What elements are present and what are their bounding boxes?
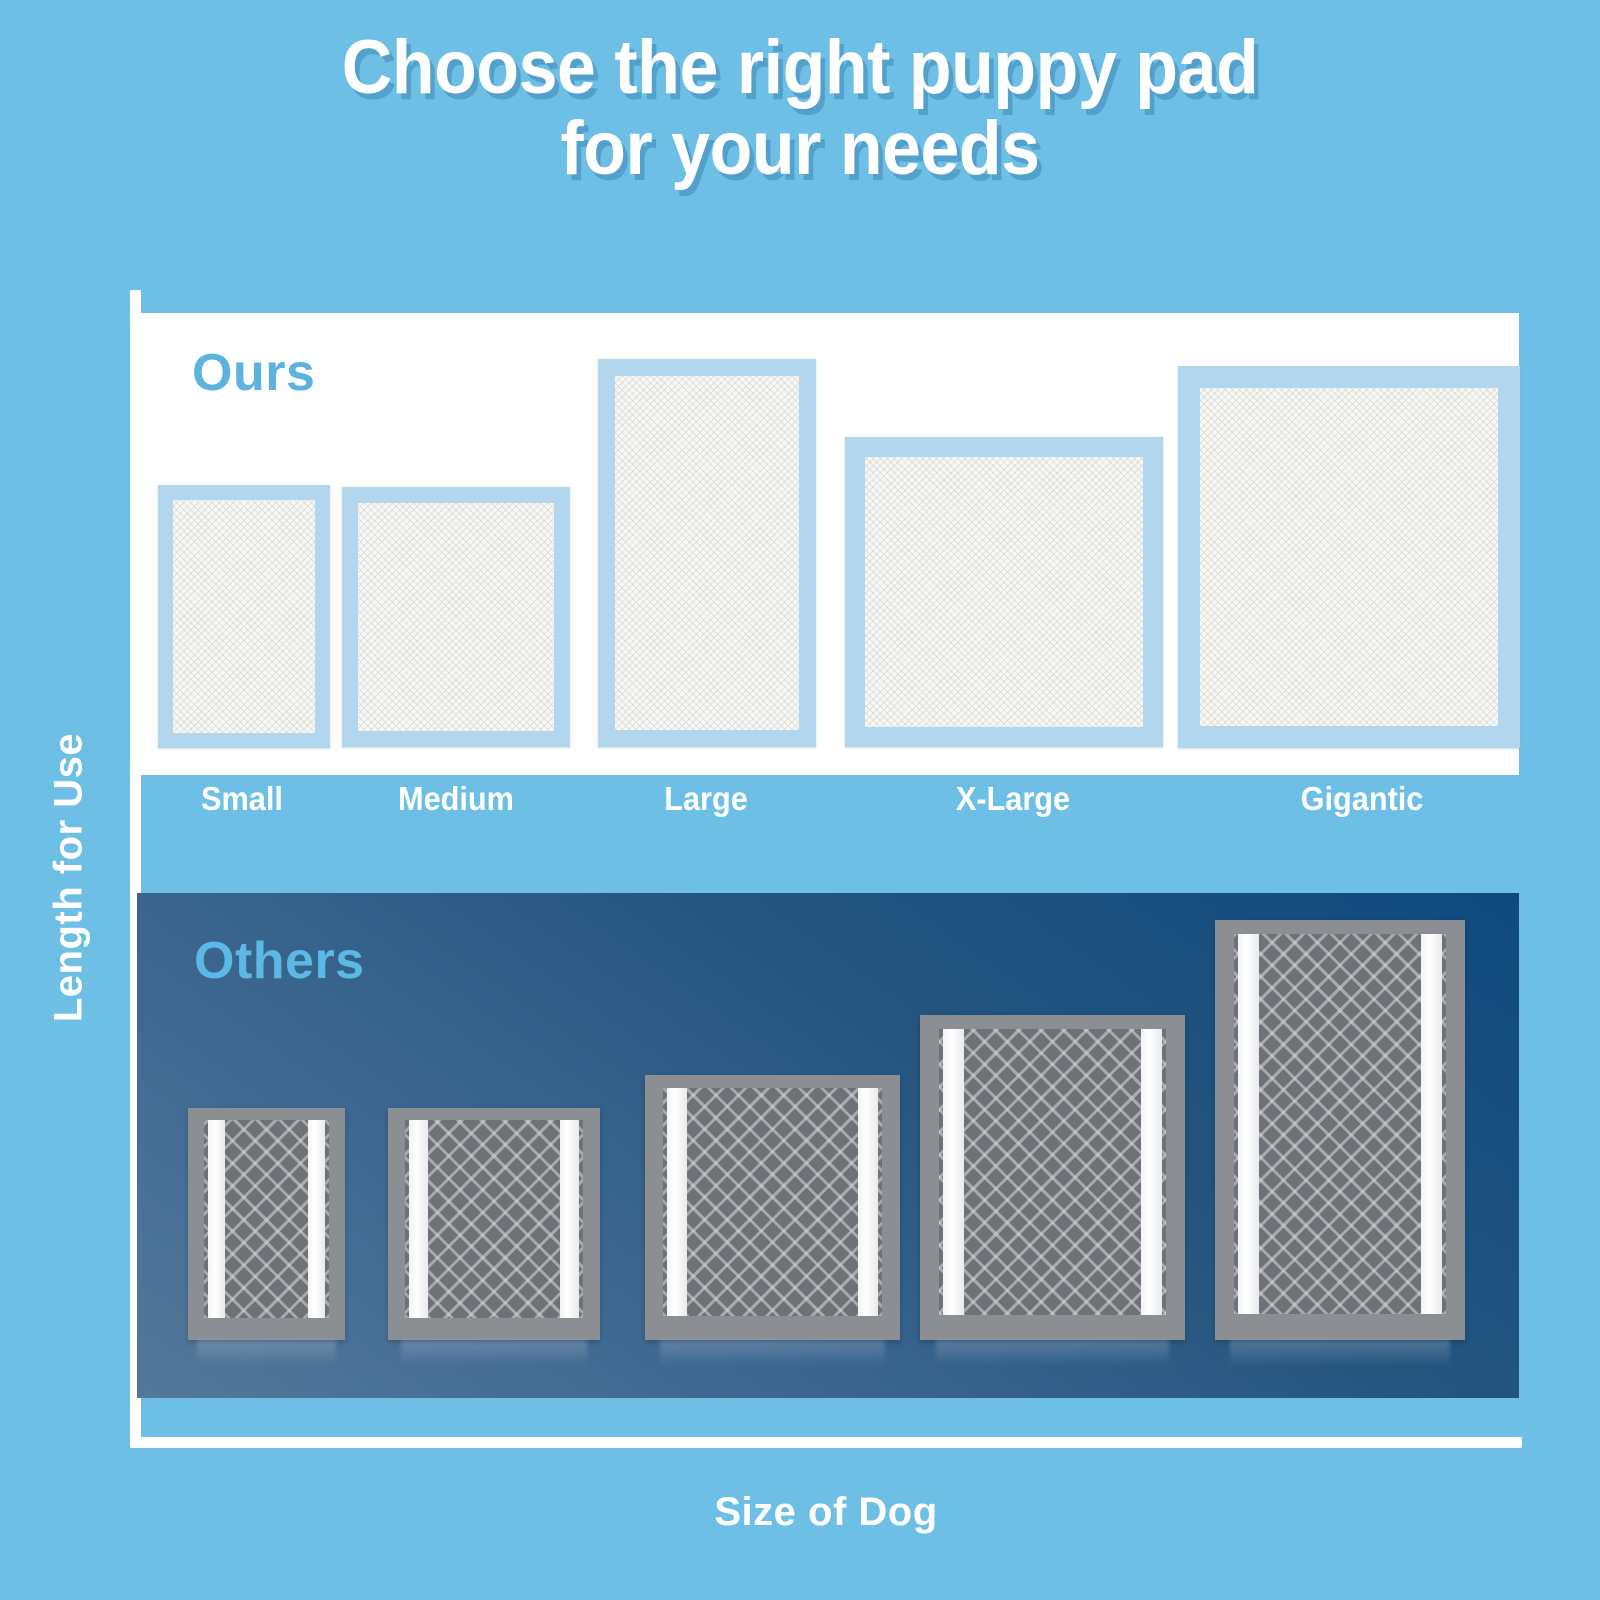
pad-reflection (936, 1340, 1169, 1366)
pad-absorbent-surface (358, 503, 554, 731)
pad-adhesive-strip-right (308, 1120, 325, 1318)
x-axis-line (130, 1437, 1522, 1448)
others-pad-large (645, 1075, 900, 1340)
ours-heading: Ours (192, 343, 315, 403)
pad-adhesive-strip-right (1421, 934, 1442, 1314)
pad-reflection (660, 1340, 884, 1366)
pad-absorbent-surface (615, 376, 799, 730)
others-pad-gigantic (1215, 920, 1465, 1340)
pad-reflection (1230, 1340, 1450, 1366)
others-heading: Others (194, 931, 365, 991)
pad-absorbent-surface (1200, 388, 1498, 726)
size-label-xlarge: X-Large (911, 780, 1116, 818)
ours-pad-medium (342, 487, 570, 747)
y-axis-label: Length for Use (47, 668, 92, 1088)
ours-pad-xlarge (845, 437, 1163, 747)
pad-absorbent-surface (1234, 934, 1446, 1314)
page-title: Choose the right puppy pad for your need… (64, 28, 1536, 189)
infographic-canvas: Choose the right puppy pad for your need… (0, 0, 1600, 1600)
size-label-small: Small (140, 780, 345, 818)
pad-adhesive-strip-left (409, 1120, 428, 1318)
pad-absorbent-surface (939, 1029, 1166, 1315)
pad-adhesive-strip-left (943, 1029, 964, 1315)
pad-adhesive-strip-right (560, 1120, 579, 1318)
pad-absorbent-surface (405, 1120, 583, 1318)
pad-adhesive-strip-right (858, 1088, 878, 1316)
ours-pad-small (158, 485, 330, 748)
ours-pad-large (598, 359, 816, 747)
size-label-large: Large (604, 780, 809, 818)
pad-adhesive-strip-right (1141, 1029, 1162, 1315)
pad-reflection (197, 1340, 335, 1366)
others-pad-small (188, 1108, 345, 1340)
size-label-gigantic: Gigantic (1260, 780, 1465, 818)
pad-absorbent-surface (663, 1088, 882, 1316)
ours-panel: Ours (137, 313, 1519, 775)
x-axis-label: Size of Dog (130, 1490, 1522, 1535)
ours-pad-gigantic (1178, 366, 1520, 748)
others-pad-medium (388, 1108, 600, 1340)
others-panel: Others (137, 893, 1519, 1398)
pad-adhesive-strip-left (208, 1120, 225, 1318)
size-label-medium: Medium (354, 780, 559, 818)
others-pad-xlarge (920, 1015, 1185, 1340)
pad-reflection (401, 1340, 588, 1366)
pad-absorbent-surface (865, 457, 1143, 727)
pad-adhesive-strip-left (1238, 934, 1259, 1314)
pad-adhesive-strip-left (667, 1088, 687, 1316)
pad-absorbent-surface (173, 500, 315, 733)
